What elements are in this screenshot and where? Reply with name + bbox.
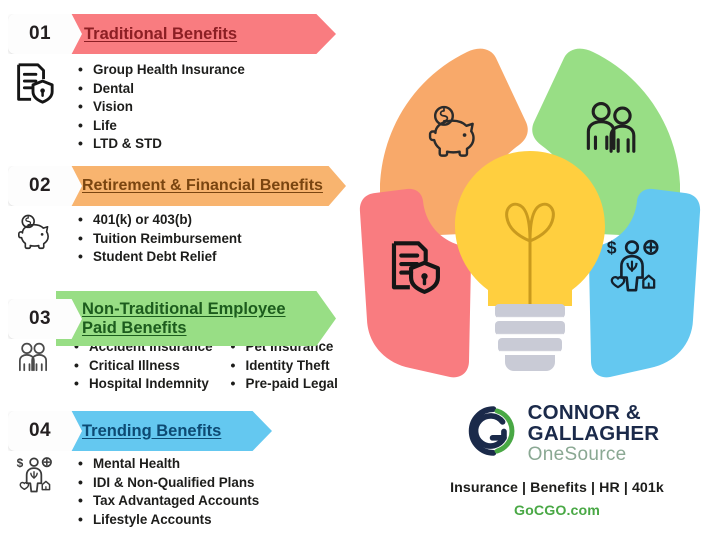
logo-row: CONNOR & GALLAGHER OneSource bbox=[404, 400, 710, 467]
benefit-bullets-03-left: Accident Insurance Critical Illness Hosp… bbox=[74, 338, 213, 394]
list-item: 401(k) or 403(b) bbox=[78, 211, 242, 230]
piggy-bank-icon bbox=[10, 208, 60, 258]
document-shield-icon bbox=[10, 59, 60, 109]
list-item: LTD & STD bbox=[78, 135, 245, 154]
list-item: Dental bbox=[78, 80, 245, 99]
section-banner-01: Traditional Benefits bbox=[56, 14, 336, 54]
two-people-icon bbox=[12, 337, 62, 387]
benefit-bullets-04: Mental Health IDI & Non-Qualified Plans … bbox=[78, 455, 259, 529]
logo-line-1: CONNOR & bbox=[528, 402, 660, 423]
section-number-badge-02: 02 bbox=[8, 166, 82, 206]
list-item: Vision bbox=[78, 98, 245, 117]
section-number-badge-01: 01 bbox=[8, 14, 82, 54]
benefit-bullets-01: Group Health Insurance Dental Vision Lif… bbox=[78, 61, 245, 154]
benefits-list-column: Traditional Benefits 01 Group Health Ins… bbox=[0, 0, 392, 539]
section-banner-04: Trending Benefits bbox=[56, 411, 272, 451]
list-item: Hospital Indemnity bbox=[74, 375, 213, 394]
list-item: Pre-paid Legal bbox=[231, 375, 338, 394]
logo-website-link[interactable]: GoCGO.com bbox=[404, 503, 710, 519]
infographic-canvas: Traditional Benefits 01 Group Health Ins… bbox=[0, 0, 720, 539]
list-item: Mental Health bbox=[78, 455, 259, 474]
lightbulb-icon bbox=[455, 151, 605, 371]
company-logo-block[interactable]: CONNOR & GALLAGHER OneSource Insurance |… bbox=[404, 400, 710, 535]
section-number-02: 02 bbox=[29, 175, 61, 197]
section-number-03: 03 bbox=[29, 308, 61, 330]
section-number-01: 01 bbox=[29, 23, 61, 45]
section-number-badge-03: 03 bbox=[8, 299, 82, 339]
list-item: Group Health Insurance bbox=[78, 61, 245, 80]
list-item: IDI & Non-Qualified Plans bbox=[78, 474, 259, 493]
list-item: Identity Theft bbox=[231, 357, 338, 376]
person-benefits-icon: $ bbox=[12, 453, 62, 503]
section-title-01: Traditional Benefits bbox=[84, 25, 237, 43]
benefit-bullets-02: 401(k) or 403(b) Tuition Reimbursement S… bbox=[78, 211, 242, 267]
section-banner-02: Retirement & Financial Benefits bbox=[56, 166, 346, 206]
section-title-03: Non-Traditional Employee Paid Benefits bbox=[82, 300, 312, 337]
lightbulb-petal-diagram: $ bbox=[355, 38, 705, 383]
list-item: Student Debt Relief bbox=[78, 248, 242, 267]
section-banner-03: Non-Traditional Employee Paid Benefits bbox=[56, 291, 336, 346]
cg-monogram-icon bbox=[455, 400, 521, 467]
logo-tagline: Insurance | Benefits | HR | 401k bbox=[404, 480, 710, 496]
list-item: Life bbox=[78, 117, 245, 136]
section-title-04: Trending Benefits bbox=[82, 422, 221, 440]
section-title-02: Retirement & Financial Benefits bbox=[82, 177, 323, 195]
section-number-badge-04: 04 bbox=[8, 411, 82, 451]
list-item: Lifestyle Accounts bbox=[78, 511, 259, 530]
svg-text:$: $ bbox=[17, 456, 24, 470]
svg-text:$: $ bbox=[607, 238, 617, 258]
benefit-bullets-03-right: Pet Insurance Identity Theft Pre-paid Le… bbox=[231, 338, 338, 394]
section-number-04: 04 bbox=[29, 420, 61, 442]
benefit-bullet-columns-03: Accident Insurance Critical Illness Hosp… bbox=[74, 338, 338, 394]
logo-wordmark: CONNOR & GALLAGHER OneSource bbox=[528, 402, 660, 465]
list-item: Critical Illness bbox=[74, 357, 213, 376]
list-item: Tuition Reimbursement bbox=[78, 230, 242, 249]
logo-line-2: GALLAGHER bbox=[528, 423, 660, 444]
list-item: Tax Advantaged Accounts bbox=[78, 492, 259, 511]
logo-line-3: OneSource bbox=[528, 444, 660, 465]
